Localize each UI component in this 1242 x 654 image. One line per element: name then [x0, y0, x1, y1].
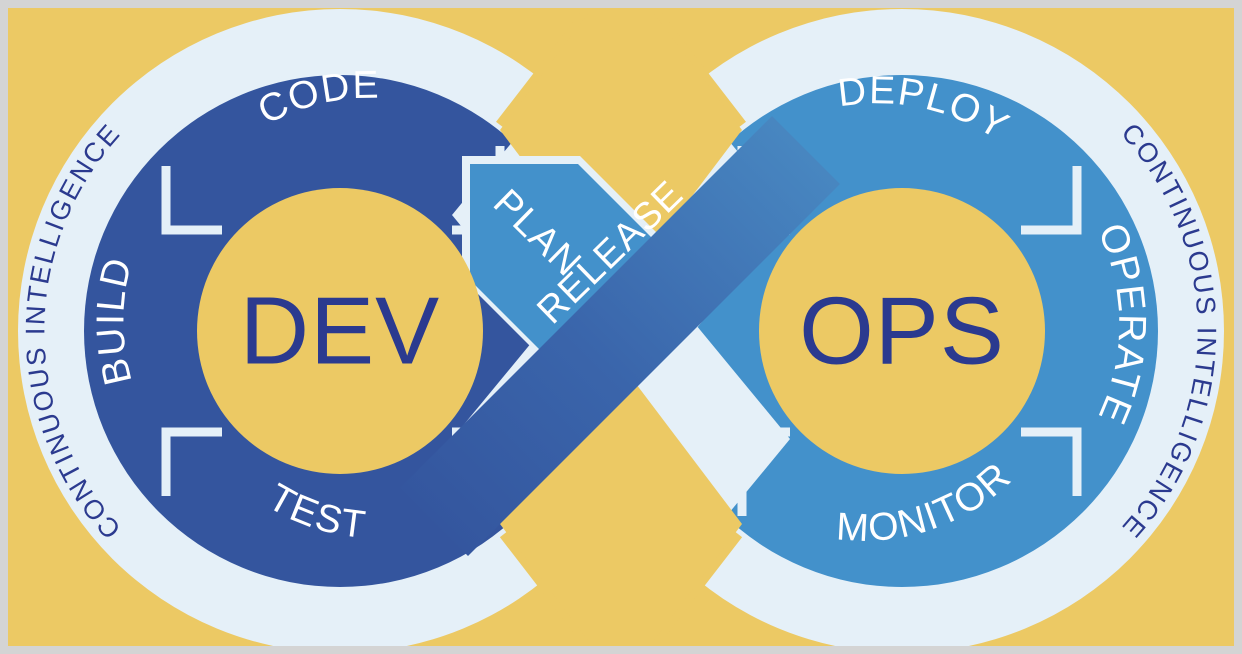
ops-core-label: OPS: [799, 278, 1005, 385]
dev-core-label: DEV: [240, 278, 440, 385]
devops-infinity-diagram: CONTINUOUS INTELLIGENCE CONTINUOUS INTEL…: [0, 0, 1242, 654]
devops-diagram-stage: CONTINUOUS INTELLIGENCE CONTINUOUS INTEL…: [0, 0, 1242, 654]
